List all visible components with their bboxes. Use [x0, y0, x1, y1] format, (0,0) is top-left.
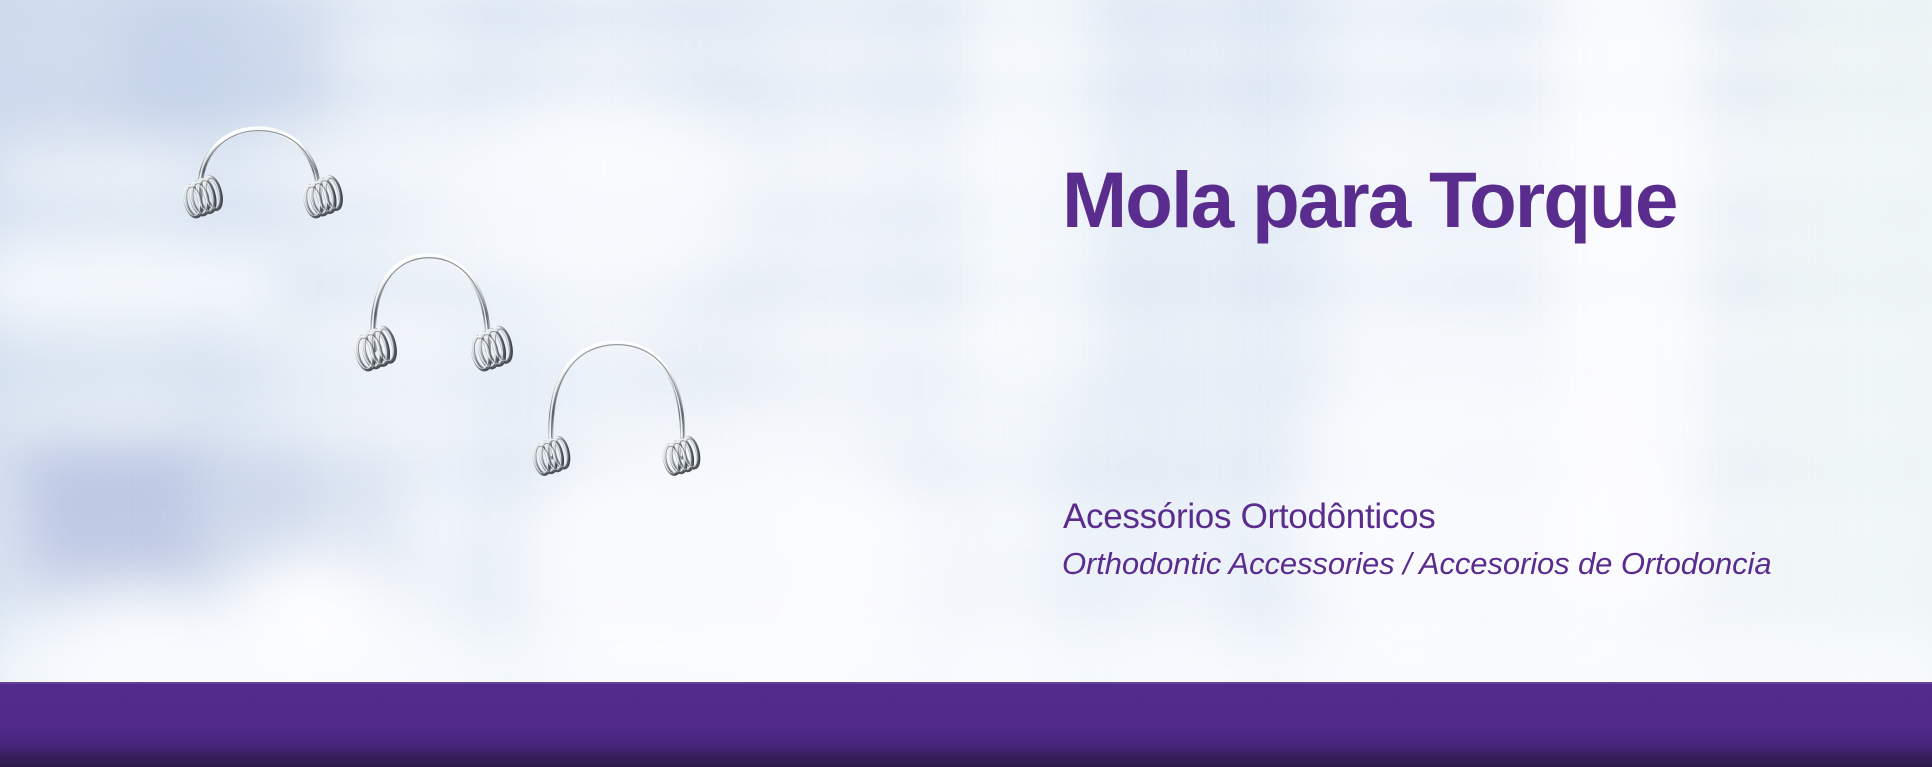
- category-label-pt: Acessórios Ortodônticos: [1063, 497, 1435, 537]
- product-banner: Mola para Torque Acessórios Ortodônticos…: [0, 0, 1932, 767]
- torque-spring-large-graphic: [512, 325, 742, 485]
- torque-spring-medium-graphic: [338, 232, 538, 382]
- background-blob-streak-left: [0, 250, 280, 325]
- footer-accent-bar: [0, 682, 1932, 767]
- helical-coil-icon: [467, 325, 516, 373]
- background-blob-blue-band-2: [250, 455, 405, 570]
- category-label-translations: Orthodontic Accessories / Accesorios de …: [1062, 546, 1771, 582]
- helical-coil-icon: [300, 174, 346, 219]
- footer-bar-highlight: [0, 682, 1932, 684]
- list-item: [512, 325, 742, 485]
- background-blob-topleft-blue-2: [120, 0, 330, 120]
- helical-coil-icon: [180, 174, 226, 219]
- background-blob-streak-left-2: [0, 330, 220, 390]
- page-title: Mola para Torque: [1062, 160, 1676, 239]
- background-blob-lavender-2: [10, 440, 210, 585]
- list-item: [338, 232, 538, 382]
- banner-text-block: Mola para Torque Acessórios Ortodônticos…: [1062, 0, 1892, 767]
